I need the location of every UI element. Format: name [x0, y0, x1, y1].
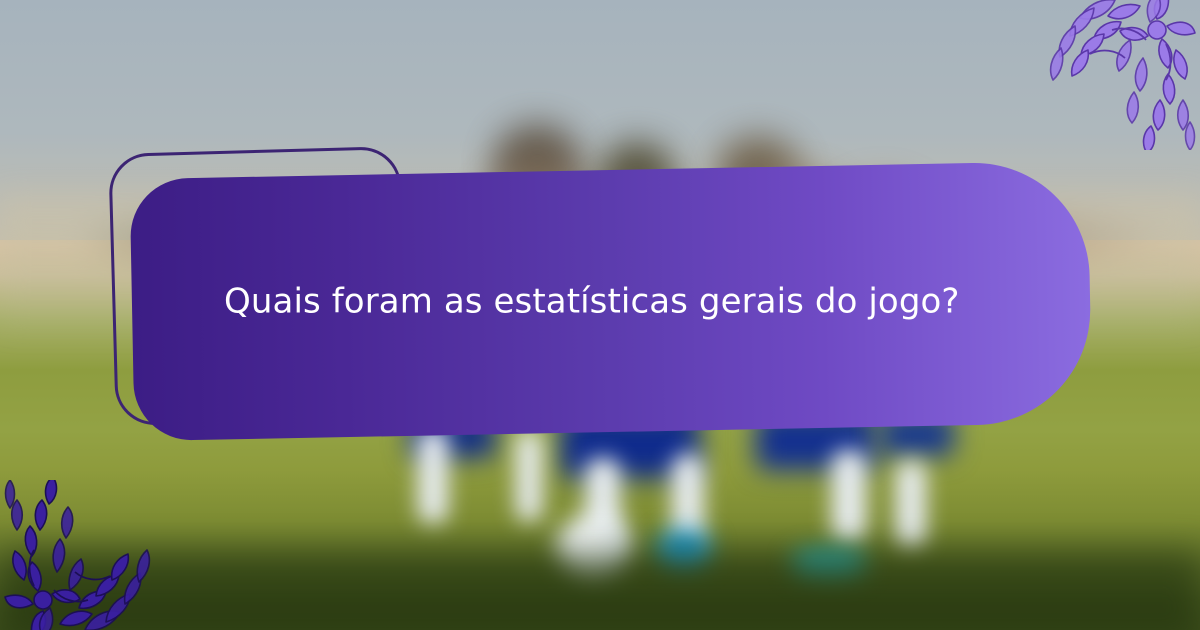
- poster-canvas: Quais foram as estatísticas gerais do jo…: [0, 0, 1200, 630]
- blurred-player-sock: [832, 450, 866, 542]
- headline-card: Quais foram as estatísticas gerais do jo…: [130, 161, 1093, 441]
- background-grass-shadow: [0, 550, 1200, 630]
- blurred-player-sock: [896, 460, 926, 548]
- background-lower-bodies: [0, 420, 1200, 630]
- blurred-player-sock: [516, 430, 542, 522]
- blurred-player-sock: [418, 428, 448, 524]
- headline-text: Quais foram as estatísticas gerais do jo…: [132, 280, 1050, 323]
